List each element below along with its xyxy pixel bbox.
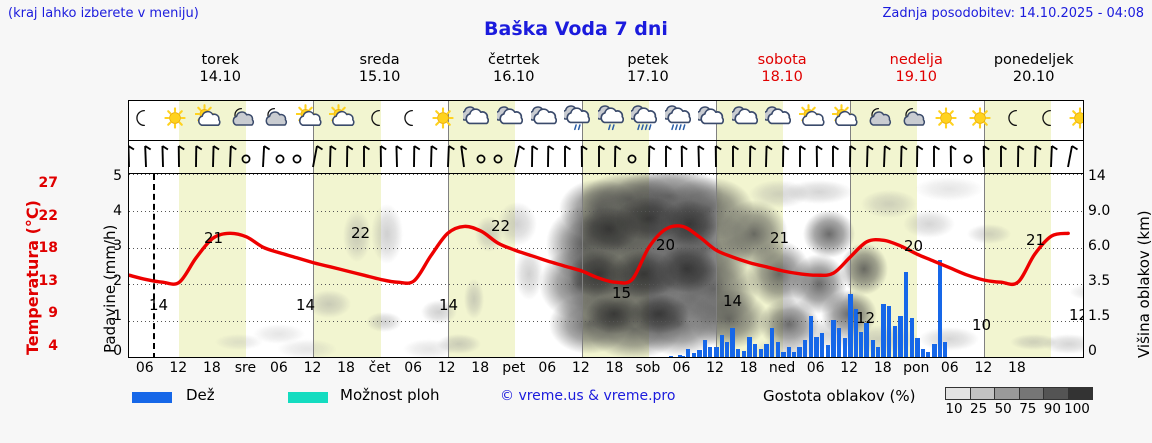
wind-barb bbox=[1026, 143, 1044, 169]
wind-barb bbox=[439, 143, 457, 169]
wind-barb bbox=[204, 143, 222, 169]
wind-barb bbox=[824, 143, 842, 169]
temperature-tick: 9 bbox=[30, 305, 58, 321]
day-date: 20.10 bbox=[983, 69, 1084, 86]
temperature-label: 22 bbox=[351, 224, 370, 242]
time-tick: 18 bbox=[329, 360, 363, 376]
weather-icon-sun bbox=[430, 103, 456, 137]
temperature-label: 22 bbox=[491, 217, 510, 235]
wind-barb bbox=[556, 143, 574, 169]
weather-icon-cloud bbox=[765, 103, 791, 137]
time-tick: 12 bbox=[161, 360, 195, 376]
wind-barb bbox=[355, 143, 373, 169]
time-tick: čet bbox=[363, 360, 397, 376]
precipitation-axis-title: Padavine (mm/h) bbox=[84, 175, 104, 355]
temperature-label: 14 bbox=[439, 296, 458, 314]
time-tick: 12 bbox=[564, 360, 598, 376]
wind-barb bbox=[808, 143, 826, 169]
temperature-curve bbox=[129, 174, 1083, 358]
wind-barb bbox=[455, 143, 473, 169]
wind-barb bbox=[959, 143, 977, 169]
cloud-density-step bbox=[1068, 387, 1094, 400]
weather-icon-moon-cloud bbox=[229, 103, 255, 137]
weather-icon-cloud-rain-heavy bbox=[631, 103, 657, 137]
wind-barb bbox=[1042, 143, 1060, 169]
temperature-label: 12 bbox=[856, 309, 875, 327]
time-tick: 06 bbox=[530, 360, 564, 376]
wind-barb bbox=[875, 143, 893, 169]
day-name: petek bbox=[581, 52, 715, 69]
rain-legend-swatch bbox=[132, 392, 172, 403]
wind-barb bbox=[523, 143, 541, 169]
weather-icon-moon bbox=[1034, 103, 1060, 137]
wind-barb bbox=[992, 143, 1010, 169]
wind-barb bbox=[774, 143, 792, 169]
weather-icon-moon-cloud bbox=[262, 103, 288, 137]
wind-barb bbox=[137, 143, 155, 169]
wind-barb bbox=[673, 143, 691, 169]
weather-icon-cloud bbox=[497, 103, 523, 137]
wind-barb bbox=[170, 143, 188, 169]
temperature-label: 15 bbox=[612, 284, 631, 302]
wind-barb bbox=[741, 143, 759, 169]
wind-barb-row bbox=[129, 140, 1083, 173]
weather-icon-cloud-rain bbox=[598, 103, 624, 137]
temperature-tick: 27 bbox=[30, 175, 58, 191]
wind-barb bbox=[590, 143, 608, 169]
time-tick: 18 bbox=[463, 360, 497, 376]
wind-barb bbox=[1009, 143, 1027, 169]
day-header-nedelja: nedelja19.10 bbox=[849, 52, 983, 86]
wind-barb bbox=[506, 143, 524, 169]
temperature-line bbox=[129, 226, 1068, 285]
day-name: torek bbox=[128, 52, 312, 69]
cloud-height-tick: 14 bbox=[1088, 168, 1118, 184]
day-name: nedelja bbox=[849, 52, 983, 69]
weather-icon-sun bbox=[1067, 103, 1084, 137]
precipitation-tick: 1 bbox=[100, 308, 122, 324]
wind-barb bbox=[791, 143, 809, 169]
wind-barb bbox=[640, 143, 658, 169]
day-header-sreda: sreda15.10 bbox=[312, 52, 446, 86]
time-tick: 06 bbox=[664, 360, 698, 376]
time-tick: 18 bbox=[195, 360, 229, 376]
temperature-label: 21 bbox=[1026, 231, 1045, 249]
cloud-density-step bbox=[1019, 387, 1044, 400]
precipitation-tick: 5 bbox=[100, 168, 122, 184]
time-tick: 18 bbox=[1000, 360, 1034, 376]
day-date: 16.10 bbox=[447, 69, 581, 86]
wind-barb bbox=[304, 143, 322, 169]
time-tick: 12 bbox=[832, 360, 866, 376]
temperature-label: 21 bbox=[204, 229, 223, 247]
weather-icon-moon bbox=[128, 103, 154, 137]
wind-barb bbox=[338, 143, 356, 169]
wind-barb bbox=[942, 143, 960, 169]
temperature-label: 10 bbox=[972, 316, 991, 334]
day-header-ponedeljek: ponedeljek20.10 bbox=[983, 52, 1084, 86]
forecast-plot[interactable]: 142114221422152014211220102112 bbox=[128, 100, 1084, 358]
weather-icon-cloud bbox=[463, 103, 489, 137]
weather-icon-cloud bbox=[732, 103, 758, 137]
weather-icon-cloud-rain bbox=[564, 103, 590, 137]
wind-barb bbox=[288, 143, 306, 169]
wind-barb bbox=[154, 143, 172, 169]
weather-icon-sun bbox=[162, 103, 188, 137]
day-date: 15.10 bbox=[312, 69, 446, 86]
time-tick: 12 bbox=[295, 360, 329, 376]
cloud-density-tick-labels: 1025507590100 bbox=[938, 401, 1100, 419]
day-date: 17.10 bbox=[581, 69, 715, 86]
precipitation-tick: 3 bbox=[100, 238, 122, 254]
time-tick: pet bbox=[497, 360, 531, 376]
time-tick: 06 bbox=[262, 360, 296, 376]
wind-barb bbox=[472, 143, 490, 169]
wind-barb bbox=[271, 143, 289, 169]
wind-barb bbox=[321, 143, 339, 169]
precipitation-tick: 4 bbox=[100, 203, 122, 219]
wind-barb bbox=[187, 143, 205, 169]
weather-icon-sun bbox=[933, 103, 959, 137]
day-name: sobota bbox=[715, 52, 849, 69]
weather-icon-sun-cloud bbox=[799, 103, 825, 137]
temperature-tick: 18 bbox=[30, 240, 58, 256]
day-date: 18.10 bbox=[715, 69, 849, 86]
wind-barb bbox=[1059, 143, 1077, 169]
time-tick: pon bbox=[899, 360, 933, 376]
shower-legend-swatch bbox=[288, 392, 328, 403]
weather-icon-sun-cloud bbox=[195, 103, 221, 137]
current-time-line bbox=[153, 174, 155, 358]
weather-icon-moon-cloud bbox=[866, 103, 892, 137]
cloud-height-axis-title: Višina oblakov (km) bbox=[1118, 170, 1138, 360]
wind-barb bbox=[489, 143, 507, 169]
cloud-density-step bbox=[994, 387, 1019, 400]
precipitation-tick: 0 bbox=[100, 343, 122, 359]
wind-barb bbox=[422, 143, 440, 169]
time-tick: 18 bbox=[866, 360, 900, 376]
temperature-label: 14 bbox=[149, 296, 168, 314]
wind-barb bbox=[606, 143, 624, 169]
weather-icon-cloud-rain-heavy bbox=[665, 103, 691, 137]
time-tick: 06 bbox=[799, 360, 833, 376]
temperature-label: 14 bbox=[296, 296, 315, 314]
time-tick: 12 bbox=[430, 360, 464, 376]
weather-icon-sun-cloud bbox=[296, 103, 322, 137]
cloud-density-tick: 100 bbox=[1061, 401, 1093, 417]
day-header-sobota: sobota18.10 bbox=[715, 52, 849, 86]
cloud-density-legend-title: Gostota oblakov (%) bbox=[763, 387, 916, 405]
cloud-height-tick: 3.5 bbox=[1088, 273, 1118, 289]
wind-barb bbox=[724, 143, 742, 169]
temperature-axis-title: Temperatura (°C) bbox=[6, 175, 26, 355]
wind-barb bbox=[757, 143, 775, 169]
day-name: sreda bbox=[312, 52, 446, 69]
weather-icon-sun-cloud bbox=[329, 103, 355, 137]
weather-icon-cloud bbox=[698, 103, 724, 137]
weather-icon-sun-cloud bbox=[832, 103, 858, 137]
last-update-label: Zadnja posodobitev: 14.10.2025 - 04:08 bbox=[882, 6, 1144, 21]
cloud-height-axis-title-text: Višina oblakov (km) bbox=[1135, 210, 1152, 358]
temperature-tick: 13 bbox=[30, 273, 58, 289]
wind-barb bbox=[892, 143, 910, 169]
wind-barb bbox=[858, 143, 876, 169]
cloud-density-step bbox=[1043, 387, 1068, 400]
cloud-height-tick: 9.0 bbox=[1088, 203, 1118, 219]
wind-barb bbox=[657, 143, 675, 169]
day-name: ponedeljek bbox=[983, 52, 1084, 69]
weather-icon-moon-cloud bbox=[900, 103, 926, 137]
weather-icon-moon bbox=[363, 103, 389, 137]
day-name: četrtek bbox=[447, 52, 581, 69]
weather-icon-sun bbox=[967, 103, 993, 137]
cloud-density-step bbox=[945, 387, 970, 400]
weather-icon-cloud bbox=[531, 103, 557, 137]
copyright-link[interactable]: © vreme.us & vreme.pro bbox=[500, 388, 675, 404]
shower-legend-label: Možnost ploh bbox=[340, 386, 440, 404]
weather-icon-moon bbox=[1000, 103, 1026, 137]
wind-barb bbox=[623, 143, 641, 169]
temperature-label: 21 bbox=[770, 229, 789, 247]
cloud-density-step bbox=[970, 387, 995, 400]
temperature-tick: 22 bbox=[30, 208, 58, 224]
wind-barb bbox=[573, 143, 591, 169]
temperature-label: 14 bbox=[723, 292, 742, 310]
time-tick: 12 bbox=[966, 360, 1000, 376]
temperature-label: 20 bbox=[904, 237, 923, 255]
cloud-height-tick: 1.5 bbox=[1088, 308, 1118, 324]
day-date: 14.10 bbox=[128, 69, 312, 86]
cloud-height-tick: 6.0 bbox=[1088, 238, 1118, 254]
wind-barb bbox=[372, 143, 390, 169]
time-tick: 18 bbox=[597, 360, 631, 376]
time-tick: ned bbox=[765, 360, 799, 376]
time-tick: 06 bbox=[933, 360, 967, 376]
time-tick: 06 bbox=[128, 360, 162, 376]
rain-legend-label: Dež bbox=[186, 386, 215, 404]
temperature-label: 12 bbox=[1069, 306, 1083, 324]
wind-barb bbox=[975, 143, 993, 169]
wind-barb bbox=[539, 143, 557, 169]
cloud-density-gradient bbox=[945, 387, 1093, 400]
graph-area: 142114221422152014211220102112 bbox=[129, 174, 1083, 358]
temperature-label: 20 bbox=[656, 236, 675, 254]
wind-barb bbox=[237, 143, 255, 169]
wind-barb bbox=[254, 143, 272, 169]
wind-barb bbox=[690, 143, 708, 169]
day-header-petek: petek17.10 bbox=[581, 52, 715, 86]
wind-barb bbox=[925, 143, 943, 169]
time-tick: sre bbox=[228, 360, 262, 376]
wind-barb bbox=[221, 143, 239, 169]
wind-barb bbox=[707, 143, 725, 169]
time-tick: 06 bbox=[396, 360, 430, 376]
wind-barb bbox=[841, 143, 859, 169]
time-tick: 18 bbox=[732, 360, 766, 376]
wind-barb bbox=[405, 143, 423, 169]
precipitation-tick: 2 bbox=[100, 273, 122, 289]
day-header-torek: torek14.10 bbox=[128, 52, 312, 86]
cloud-height-tick: 0 bbox=[1088, 343, 1118, 359]
weather-icon-moon bbox=[396, 103, 422, 137]
time-tick: sob bbox=[631, 360, 665, 376]
wind-barb bbox=[908, 143, 926, 169]
day-date: 19.10 bbox=[849, 69, 983, 86]
temperature-tick: 4 bbox=[30, 338, 58, 354]
day-header-četrtek: četrtek16.10 bbox=[447, 52, 581, 86]
weather-icon-row bbox=[129, 101, 1083, 140]
time-tick: 12 bbox=[698, 360, 732, 376]
wind-barb bbox=[388, 143, 406, 169]
page-title: Baška Voda 7 dni bbox=[0, 18, 1152, 40]
